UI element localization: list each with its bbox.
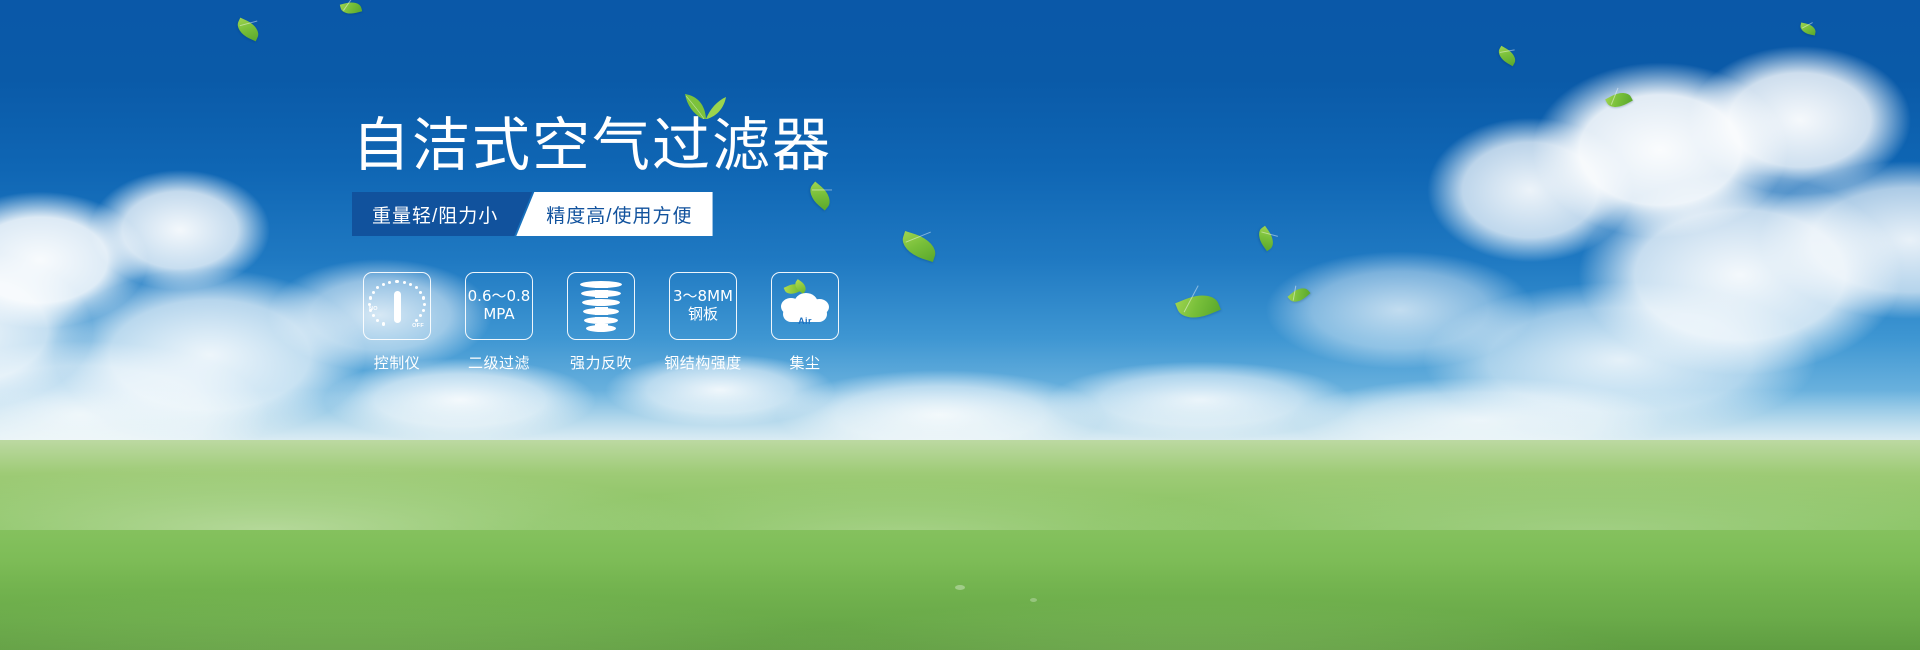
feature-item-steel-strength[interactable]: 3～8MM 钢板 钢结构强度 xyxy=(664,272,742,373)
pressure-unit: MPA xyxy=(468,306,531,324)
feature-caption: 二级过滤 xyxy=(468,352,530,373)
feature-icon-box xyxy=(567,272,635,340)
steel-plate-icon: 3～8MM 钢板 xyxy=(673,288,733,323)
air-dust-cloud-icon: Air xyxy=(778,282,832,330)
feature-caption: 钢结构强度 xyxy=(664,352,742,373)
feature-icon-box: 0.6～0.8 MPA xyxy=(465,272,533,340)
feature-caption: 控制仪 xyxy=(374,352,421,373)
steel-thickness: 3～8MM xyxy=(673,288,733,306)
steel-material: 钢板 xyxy=(673,306,733,324)
feature-icon-row: NO OFF xyxy=(358,272,844,373)
control-dial-icon: NO OFF xyxy=(369,280,425,332)
page-title: 自洁式空气过滤器 xyxy=(352,116,832,174)
dial-needle xyxy=(394,291,401,323)
tag-precision-convenience[interactable]: 精度高/使用方便 xyxy=(516,192,712,236)
banner-stage: 自洁式空气过滤器 重量轻/阻力小 精度高/使用方便 NO OFF xyxy=(0,0,1920,650)
feature-tag-group: 重量轻/阻力小 精度高/使用方便 xyxy=(352,192,713,236)
feature-icon-box: Air xyxy=(771,272,839,340)
feature-caption: 集尘 xyxy=(789,352,820,373)
feature-item-reverse-blowing[interactable]: 强力反吹 xyxy=(562,272,640,373)
tag-weight-resistance[interactable]: 重量轻/阻力小 xyxy=(352,192,532,236)
feature-caption: 强力反吹 xyxy=(570,352,632,373)
leaf-decoration-icon xyxy=(683,92,727,120)
air-label: Air xyxy=(798,316,812,326)
feature-icon-box: 3～8MM 钢板 xyxy=(669,272,737,340)
dial-off-label: OFF xyxy=(412,323,424,329)
feature-icon-box: NO OFF xyxy=(363,272,431,340)
filter-cartridge-icon xyxy=(578,279,624,333)
feature-item-dust-collection[interactable]: Air 集尘 xyxy=(766,272,844,373)
pressure-range-icon: 0.6～0.8 MPA xyxy=(468,288,531,323)
banner-content: 自洁式空气过滤器 重量轻/阻力小 精度高/使用方便 NO OFF xyxy=(0,0,1920,650)
feature-item-control-panel[interactable]: NO OFF xyxy=(358,272,436,373)
feature-item-secondary-filtration[interactable]: 0.6～0.8 MPA 二级过滤 xyxy=(460,272,538,373)
pressure-value: 0.6～0.8 xyxy=(468,288,531,306)
